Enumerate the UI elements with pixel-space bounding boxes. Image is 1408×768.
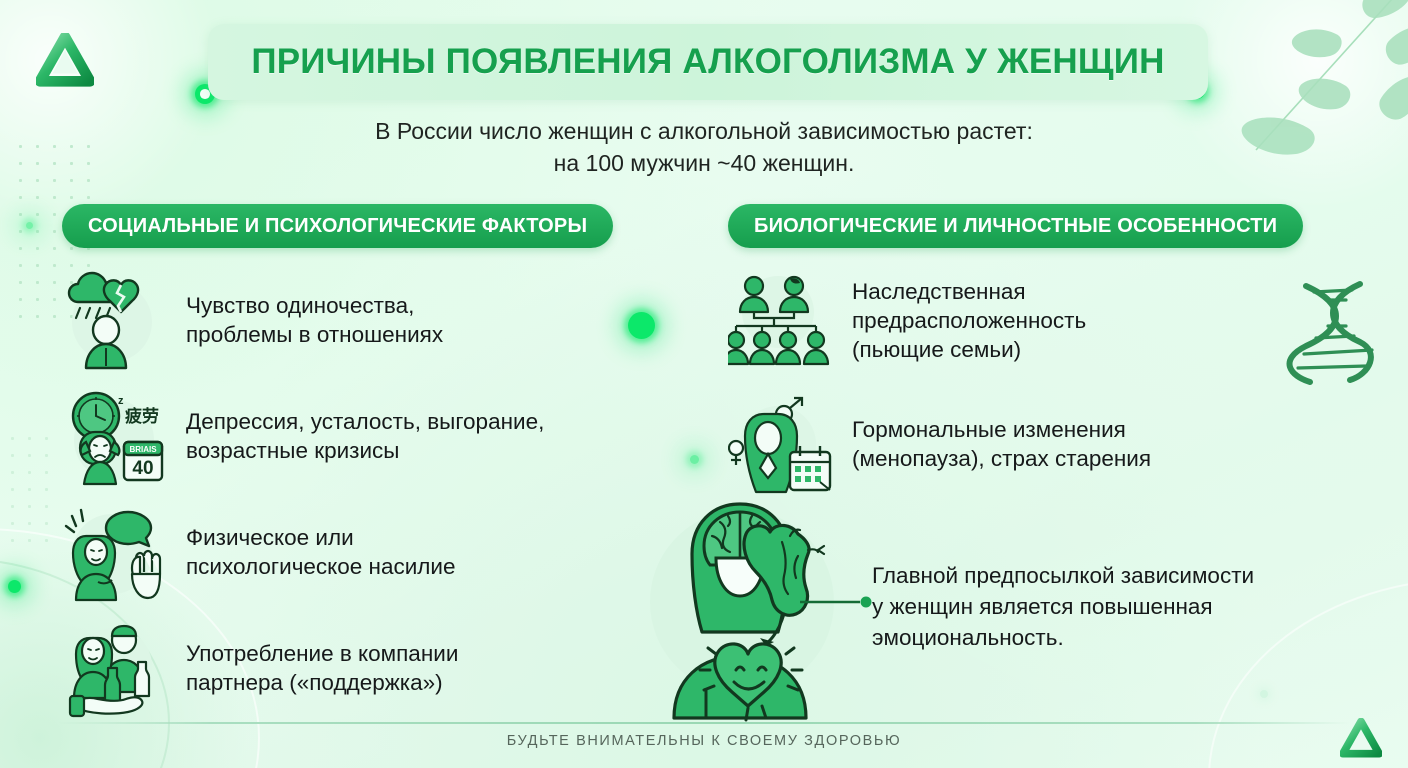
item-line: (пьющие семьи) [852,335,1086,364]
column-biological-personality: БИОЛОГИЧЕСКИЕ И ЛИЧНОСТНЫЕ ОСОБЕННОСТИ [728,204,1358,518]
cloud-rain-broken-heart-person-icon [62,270,170,370]
clock-tired-woman-calendar-icon: z 疲劳 [62,386,170,486]
item-line: предрасположенность [852,306,1086,335]
couple-bottle-hand-icon [62,618,170,718]
title-banner: ПРИЧИНЫ ПОЯВЛЕНИЯ АЛКОГОЛИЗМА У ЖЕНЩИН [208,24,1208,100]
list-item-text: Физическое или психологическое насилие [186,523,456,581]
subtitle-line-2: на 100 мужчин ~40 женщин. [0,147,1408,179]
list-item-text: Наследственная предрасположенность (пьющ… [852,277,1086,364]
item-line: Наследственная [852,277,1086,306]
page-title: ПРИЧИНЫ ПОЯВЛЕНИЯ АЛКОГОЛИЗМА У ЖЕНЩИН [251,42,1164,82]
callout-line: эмоциональность. [872,622,1342,653]
icon-label-fatigue: 疲劳 [125,406,159,427]
triangle-logo-icon [1340,718,1382,760]
list-item: z 疲劳 [62,386,687,486]
footer-text: БУДЬТЕ ВНИМАТЕЛЬНЫ К СВОЕМУ ЗДОРОВЬЮ [0,733,1408,749]
icon-label-40: 40 [132,458,153,479]
item-list-biological: Наследственная предрасположенность (пьющ… [728,270,1358,494]
woman-stop-hand-thought-icon [62,502,170,602]
family-tree-icon [728,270,836,370]
triangle-logo-icon [36,33,94,89]
callout-line: у женщин является повышенная [872,591,1342,622]
list-item-text: Чувство одиночества, проблемы в отношени… [186,291,443,349]
list-item-text: Употребление в компании партнера («подде… [186,639,458,697]
item-line: Гормональные изменения [852,415,1151,444]
callout-line: Главной предпосылкой зависимости [872,560,1342,591]
subtitle-line-1: В России число женщин с алкогольной зави… [0,115,1408,147]
callout-connector-line [800,596,872,608]
section-header-biological: БИОЛОГИЧЕСКИЕ И ЛИЧНОСТНЫЕ ОСОБЕННОСТИ [728,204,1303,248]
section-header-social: СОЦИАЛЬНЫЕ И ПСИХОЛОГИЧЕСКИЕ ФАКТОРЫ [62,204,613,248]
item-line: Употребление в компании [186,639,458,668]
item-line: Депрессия, усталость, выгорание, [186,407,544,436]
item-line: возрастные кризисы [186,436,544,465]
list-item: Употребление в компании партнера («подде… [62,618,687,718]
item-line: (менопауза), страх старения [852,444,1151,473]
column-social-psychological: СОЦИАЛЬНЫЕ И ПСИХОЛОГИЧЕСКИЕ ФАКТОРЫ [62,204,687,734]
item-line: проблемы в отношениях [186,320,443,349]
dna-helix-icon [1284,278,1380,388]
list-item-text: Гормональные изменения (менопауза), стра… [852,415,1151,473]
item-line: партнера («поддержка») [186,668,458,697]
item-line: Чувство одиночества, [186,291,443,320]
svg-text:z: z [118,395,124,407]
list-item: Чувство одиночества, проблемы в отношени… [62,270,687,370]
hero-callout: Главной предпосылкой зависимости у женщи… [872,560,1342,653]
list-item: Наследственная предрасположенность (пьющ… [728,270,1358,370]
item-line: Физическое или [186,523,456,552]
item-line: психологическое насилие [186,552,456,581]
subtitle: В России число женщин с алкогольной зави… [0,115,1408,179]
icon-label-briais: BRIAIS [129,445,157,454]
item-list-social: Чувство одиночества, проблемы в отношени… [62,270,687,718]
woman-gender-symbols-calendar-icon [728,394,836,494]
list-item: Физическое или психологическое насилие [62,502,687,602]
footer-divider [58,722,1350,724]
list-item: Гормональные изменения (менопауза), стра… [728,394,1358,494]
list-item-text: Депрессия, усталость, выгорание, возраст… [186,407,544,465]
